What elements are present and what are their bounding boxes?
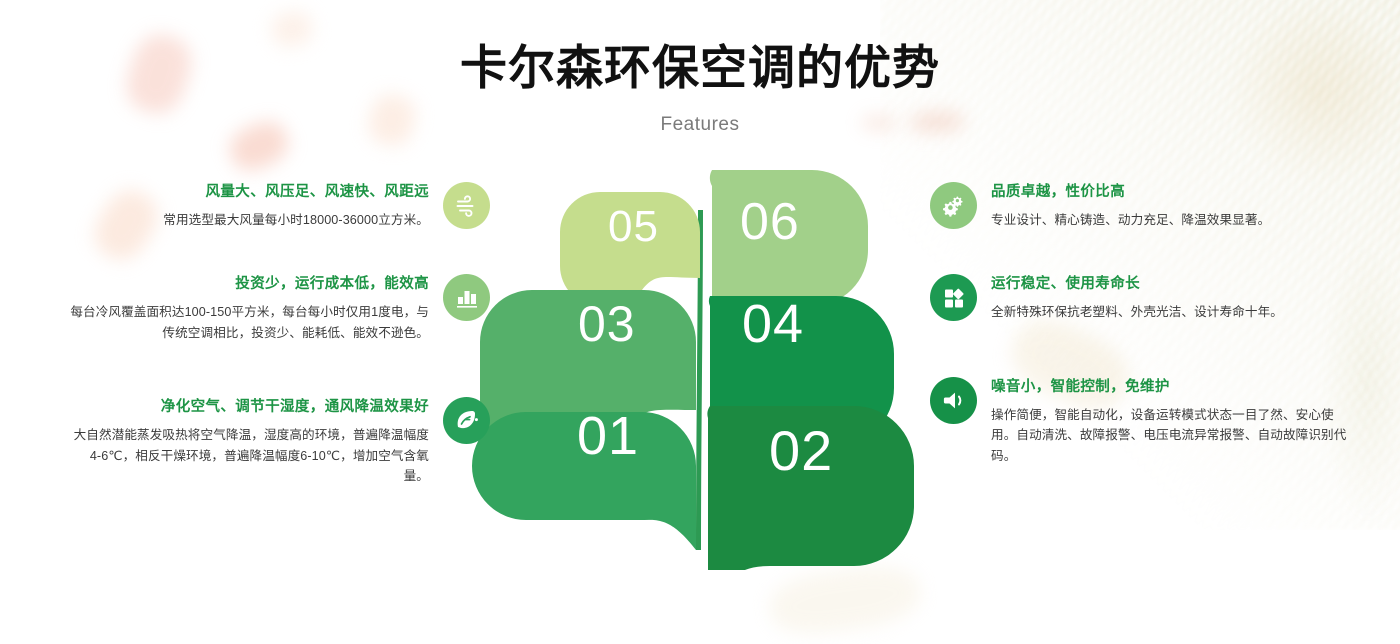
feature-text-block: 运行稳定、使用寿命长 全新特殊环保抗老塑料、外壳光洁、设计寿命十年。 xyxy=(977,272,1350,322)
leaf-cluster-shapes xyxy=(470,150,930,570)
leaf-stem xyxy=(696,210,703,550)
feature-text-block: 风量大、风压足、风速快、风距远 常用选型最大风量每小时18000-36000立方… xyxy=(70,180,443,230)
feature-description: 每台冷风覆盖面积达100-150平方米，每台每小时仅用1度电，与传统空调相比，投… xyxy=(70,302,429,343)
feature-text-block: 噪音小，智能控制，免维护 操作简便，智能自动化，设备运转模式状态一目了然、安心使… xyxy=(977,375,1350,466)
feature-item-air-purify[interactable]: 净化空气、调节干湿度，通风降温效果好 大自然潜能蒸发吸热将空气降温，湿度高的环境… xyxy=(70,395,490,486)
leaf-shape-05 xyxy=(560,192,700,306)
leaf-shape-04 xyxy=(709,296,894,490)
feature-item-durability[interactable]: 运行稳定、使用寿命长 全新特殊环保抗老塑料、外壳光洁、设计寿命十年。 xyxy=(930,272,1350,322)
feature-title: 净化空气、调节干湿度，通风降温效果好 xyxy=(70,395,429,416)
page-title: 卡尔森环保空调的优势 xyxy=(0,0,1400,96)
wind-icon xyxy=(443,182,490,229)
feature-item-wind[interactable]: 风量大、风压足、风速快、风距远 常用选型最大风量每小时18000-36000立方… xyxy=(70,180,490,230)
leaf-shape-03 xyxy=(480,290,696,452)
feature-description: 全新特殊环保抗老塑料、外壳光洁、设计寿命十年。 xyxy=(991,302,1350,322)
feature-description: 操作简便，智能自动化，设备运转模式状态一目了然、安心使用。自动清洗、故障报警、电… xyxy=(991,405,1350,466)
leaf-icon xyxy=(443,397,490,444)
feature-title: 品质卓越，性价比高 xyxy=(991,180,1350,201)
blocks-icon xyxy=(930,274,977,321)
gears-icon xyxy=(930,182,977,229)
feature-title: 投资少，运行成本低，能效高 xyxy=(70,272,429,293)
feature-text-block: 净化空气、调节干湿度，通风降温效果好 大自然潜能蒸发吸热将空气降温，湿度高的环境… xyxy=(70,395,443,486)
leaf-number-06: 06 xyxy=(740,192,800,252)
feature-description: 常用选型最大风量每小时18000-36000立方米。 xyxy=(70,210,429,230)
feature-title: 运行稳定、使用寿命长 xyxy=(991,272,1350,293)
leaf-number-01: 01 xyxy=(577,405,639,467)
leaf-shape-02 xyxy=(707,406,914,570)
infographic-slide: 卡尔森环保空调的优势 Features 05 06 03 04 01 02 xyxy=(0,0,1400,644)
leaf-shape-01 xyxy=(472,412,696,550)
leaf-number-03: 03 xyxy=(578,295,636,353)
feature-description: 专业设计、精心铸造、动力充足、降温效果显著。 xyxy=(991,210,1350,230)
slide-header: 卡尔森环保空调的优势 Features xyxy=(0,0,1400,136)
bar-chart-icon xyxy=(443,274,490,321)
feature-title: 噪音小，智能控制，免维护 xyxy=(991,375,1350,396)
leaf-number-02: 02 xyxy=(769,418,833,483)
speaker-icon xyxy=(930,377,977,424)
right-feature-column: 品质卓越，性价比高 专业设计、精心铸造、动力充足、降温效果显著。 运行稳定、使用… xyxy=(930,180,1350,502)
feature-text-block: 投资少，运行成本低，能效高 每台冷风覆盖面积达100-150平方米，每台每小时仅… xyxy=(70,272,443,343)
feature-title: 风量大、风压足、风速快、风距远 xyxy=(70,180,429,201)
feature-item-efficiency[interactable]: 投资少，运行成本低，能效高 每台冷风覆盖面积达100-150平方米，每台每小时仅… xyxy=(70,272,490,343)
feature-item-low-noise[interactable]: 噪音小，智能控制，免维护 操作简便，智能自动化，设备运转模式状态一目了然、安心使… xyxy=(930,375,1350,466)
leaf-shape-06 xyxy=(710,170,868,330)
leaf-number-05: 05 xyxy=(608,202,659,252)
left-feature-column: 风量大、风压足、风速快、风距远 常用选型最大风量每小时18000-36000立方… xyxy=(70,180,490,522)
bg-blob-cream-2 xyxy=(767,560,924,640)
page-subtitle: Features xyxy=(0,96,1400,136)
feature-description: 大自然潜能蒸发吸热将空气降温，湿度高的环境，普遍降温幅度4-6℃，相反干燥环境，… xyxy=(70,425,429,486)
feature-item-quality[interactable]: 品质卓越，性价比高 专业设计、精心铸造、动力充足、降温效果显著。 xyxy=(930,180,1350,230)
leaf-number-04: 04 xyxy=(742,293,804,355)
feature-text-block: 品质卓越，性价比高 专业设计、精心铸造、动力充足、降温效果显著。 xyxy=(977,180,1350,230)
